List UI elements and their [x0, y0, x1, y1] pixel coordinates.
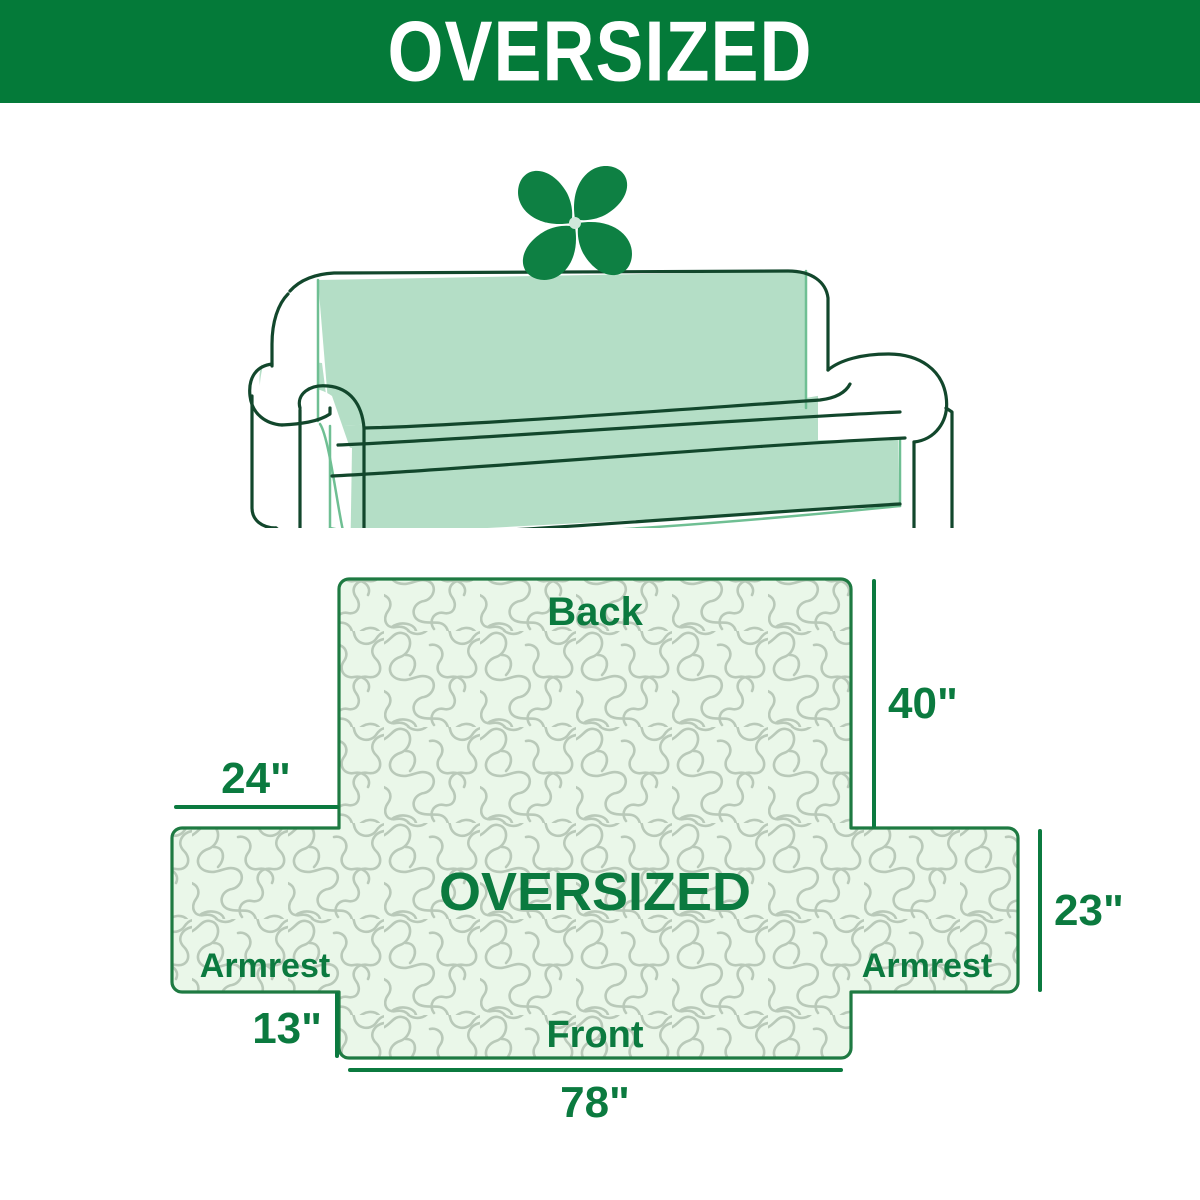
label-armrest-right: Armrest	[862, 947, 992, 985]
slipcover-flat-shape	[172, 579, 1018, 1058]
dimension-total-width: 78"	[350, 1070, 841, 1127]
dimension-armrest-height-value: 23"	[1054, 886, 1124, 935]
page-title: OVERSIZED	[387, 9, 812, 94]
sofa-illustration	[0, 108, 1200, 528]
sofa-drawing	[0, 108, 1200, 528]
header-banner: OVERSIZED	[0, 0, 1200, 103]
dimension-armrest-height: 23"	[1040, 831, 1124, 990]
dimension-armrest-width: 24"	[176, 754, 337, 807]
dimension-armrest-width-value: 24"	[221, 754, 291, 803]
dimension-back-height-value: 40"	[888, 679, 958, 728]
dimension-total-width-value: 78"	[560, 1078, 630, 1127]
dimension-front-height-value: 13"	[252, 1004, 322, 1053]
label-back: Back	[547, 590, 643, 634]
flat-layout-diagram: Back OVERSIZED Armrest Armrest Front 40"…	[0, 535, 1200, 1175]
dimension-diagram: Back OVERSIZED Armrest Armrest Front 40"…	[0, 535, 1200, 1175]
label-oversized-center: OVERSIZED	[439, 862, 751, 922]
label-armrest-left: Armrest	[200, 947, 330, 985]
dimension-front-height: 13"	[252, 994, 337, 1056]
dimension-back-height: 40"	[874, 581, 958, 826]
pinwheel-fan-icon	[518, 166, 632, 280]
label-front: Front	[546, 1014, 643, 1056]
